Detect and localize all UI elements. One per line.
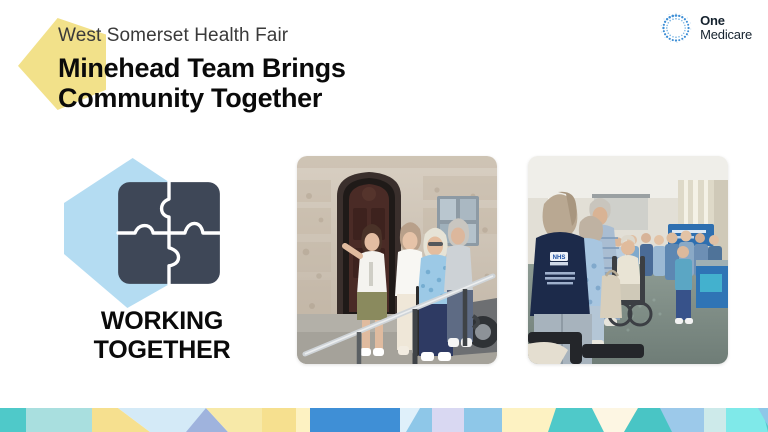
dotted-ring-icon: [660, 12, 692, 44]
svg-text:NHS: NHS: [553, 255, 566, 261]
brand-logo-wordmark: One Medicare: [700, 14, 752, 42]
page-title: Minehead Team Brings Community Together: [58, 53, 346, 113]
page-title-line-2: Community Together: [58, 83, 346, 113]
working-together-badge: WORKING TOGETHER: [62, 152, 284, 377]
header-text-block: West Somerset Health Fair Minehead Team …: [58, 24, 346, 113]
brand-name-line-2: Medicare: [700, 28, 752, 42]
page-title-line-1: Minehead Team Brings: [58, 53, 346, 83]
working-together-caption-line-1: WORKING: [62, 307, 262, 336]
decorative-geometric-band: [0, 408, 768, 432]
slide-canvas: West Somerset Health Fair Minehead Team …: [0, 0, 768, 432]
photo-team-at-doorway: [297, 156, 497, 364]
working-together-caption: WORKING TOGETHER: [62, 307, 262, 364]
brand-name-line-1: One: [700, 14, 752, 28]
photo-health-fair-hall: NHS: [528, 156, 728, 364]
brand-logo: One Medicare: [660, 12, 752, 44]
working-together-caption-line-2: TOGETHER: [62, 336, 262, 365]
page-kicker: West Somerset Health Fair: [58, 24, 346, 48]
